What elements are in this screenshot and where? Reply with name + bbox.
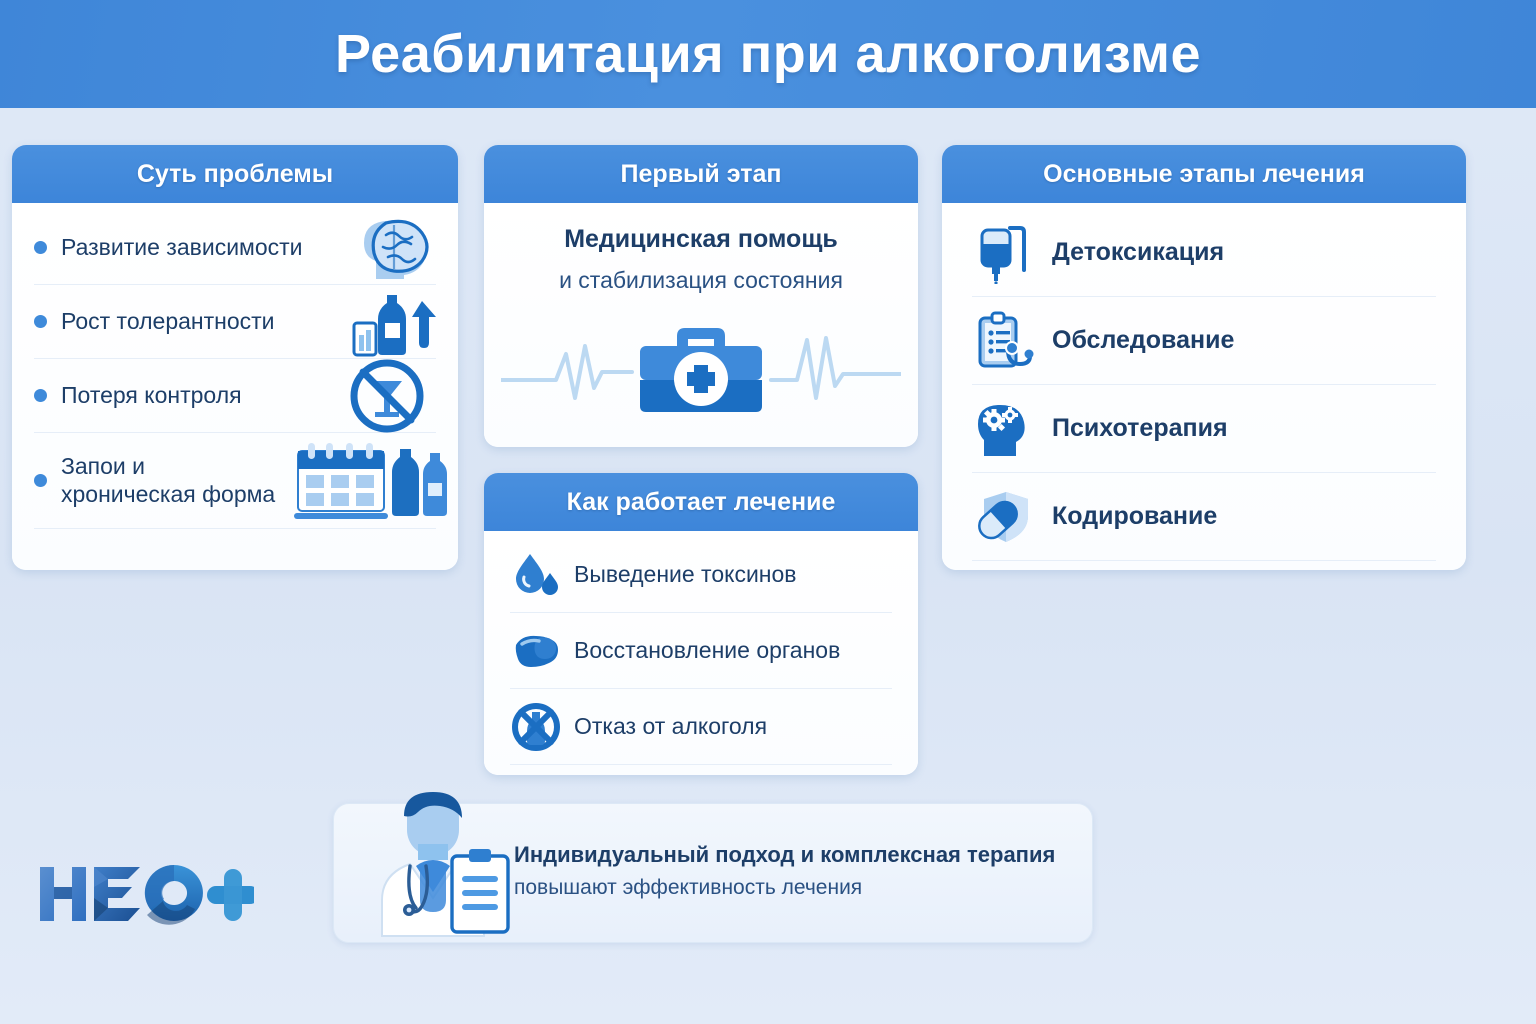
stage-item-label: Детоксикация: [1052, 238, 1224, 267]
bullet-icon: [34, 474, 47, 487]
card-first-stage-body: Медицинская помощь и стабилизация состоя…: [484, 203, 918, 447]
list-item[interactable]: Запои и хроническая форма: [34, 433, 436, 529]
problem-item-label: Потеря контроля: [61, 382, 242, 409]
card-treatment-stages: Основные этапы лечения Детоксикация: [942, 145, 1466, 570]
card-problem-title: Суть проблемы: [137, 160, 333, 189]
card-how-treatment-works: Как работает лечение Выведение токсинов: [484, 473, 918, 775]
banner-text: Индивидуальный подход и комплексная тера…: [514, 842, 1074, 900]
card-problem-essence: Суть проблемы Развитие зависимости: [12, 145, 458, 570]
first-stage-line2: и стабилизация состояния: [559, 267, 843, 294]
problem-item-label: Рост толерантности: [61, 308, 275, 335]
how-works-item-label: Восстановление органов: [574, 637, 840, 664]
liver-icon: [510, 625, 562, 677]
bullet-icon: [34, 315, 47, 328]
pill-shield-icon: [972, 486, 1034, 548]
stage-item-label: Психотерапия: [1052, 414, 1228, 443]
head-gears-icon: [972, 398, 1034, 460]
no-alcohol-circle-icon: [510, 701, 562, 753]
no-alcohol-glass-icon: [344, 353, 430, 439]
list-item[interactable]: Восстановление органов: [510, 613, 892, 689]
how-works-item-label: Отказ от алкоголя: [574, 713, 767, 740]
list-item[interactable]: Обследование: [972, 297, 1436, 385]
list-item[interactable]: Рост толерантности: [34, 285, 436, 359]
card-stages-header: Основные этапы лечения: [942, 145, 1466, 203]
bullet-icon: [34, 241, 47, 254]
problem-list: Развитие зависимости Рост толерантности: [12, 209, 458, 529]
brain-head-icon: [346, 209, 442, 287]
bullet-icon: [34, 389, 47, 402]
list-item[interactable]: Кодирование: [972, 473, 1436, 561]
list-item[interactable]: Развитие зависимости: [34, 211, 436, 285]
card-how-works-body: Выведение токсинов Восстановление органо…: [484, 531, 918, 775]
first-aid-kit-ecg-icon: [501, 308, 901, 428]
stage-item-label: Обследование: [1052, 326, 1234, 355]
neo-plus-logo[interactable]: [34, 855, 254, 933]
problem-item-label: Развитие зависимости: [61, 234, 303, 261]
card-how-works-title: Как работает лечение: [567, 488, 836, 517]
problem-item-label-line2: хроническая форма: [61, 481, 275, 507]
card-problem-body: Развитие зависимости Рост толерантности: [12, 203, 458, 570]
page-header: Реабилитация при алкоголизме: [0, 0, 1536, 108]
list-item[interactable]: Выведение токсинов: [510, 537, 892, 613]
stage-item-label: Кодирование: [1052, 502, 1217, 531]
clipboard-stethoscope-icon: [972, 310, 1034, 372]
bottom-banner: Индивидуальный подход и комплексная тера…: [333, 803, 1093, 943]
list-item[interactable]: Отказ от алкоголя: [510, 689, 892, 765]
iv-drip-icon: [972, 222, 1034, 284]
banner-line1: Индивидуальный подход и комплексная тера…: [514, 842, 1074, 868]
calendar-bottles-icon: [284, 435, 454, 527]
card-problem-header: Суть проблемы: [12, 145, 458, 203]
problem-item-label: Запои и хроническая форма: [61, 453, 275, 507]
list-item[interactable]: Потеря контроля: [34, 359, 436, 433]
card-first-stage: Первый этап Медицинская помощь и стабили…: [484, 145, 918, 447]
bottle-glass-arrow-icon: [346, 283, 442, 361]
list-item[interactable]: Детоксикация: [972, 209, 1436, 297]
how-works-item-label: Выведение токсинов: [574, 561, 797, 588]
list-item[interactable]: Психотерапия: [972, 385, 1436, 473]
card-stages-title: Основные этапы лечения: [1043, 160, 1365, 189]
card-stages-body: Детоксикация Обслед: [942, 203, 1466, 570]
banner-line2: повышают эффективность лечения: [514, 876, 1074, 900]
card-first-stage-header: Первый этап: [484, 145, 918, 203]
first-stage-line1: Медицинская помощь: [564, 225, 838, 254]
water-drop-icon: [510, 549, 562, 601]
doctor-clipboard-icon: [352, 786, 520, 946]
card-first-stage-title: Первый этап: [621, 160, 782, 189]
page-title: Реабилитация при алкоголизме: [335, 23, 1201, 85]
card-how-works-header: Как работает лечение: [484, 473, 918, 531]
problem-item-label-line1: Запои и: [61, 453, 145, 479]
